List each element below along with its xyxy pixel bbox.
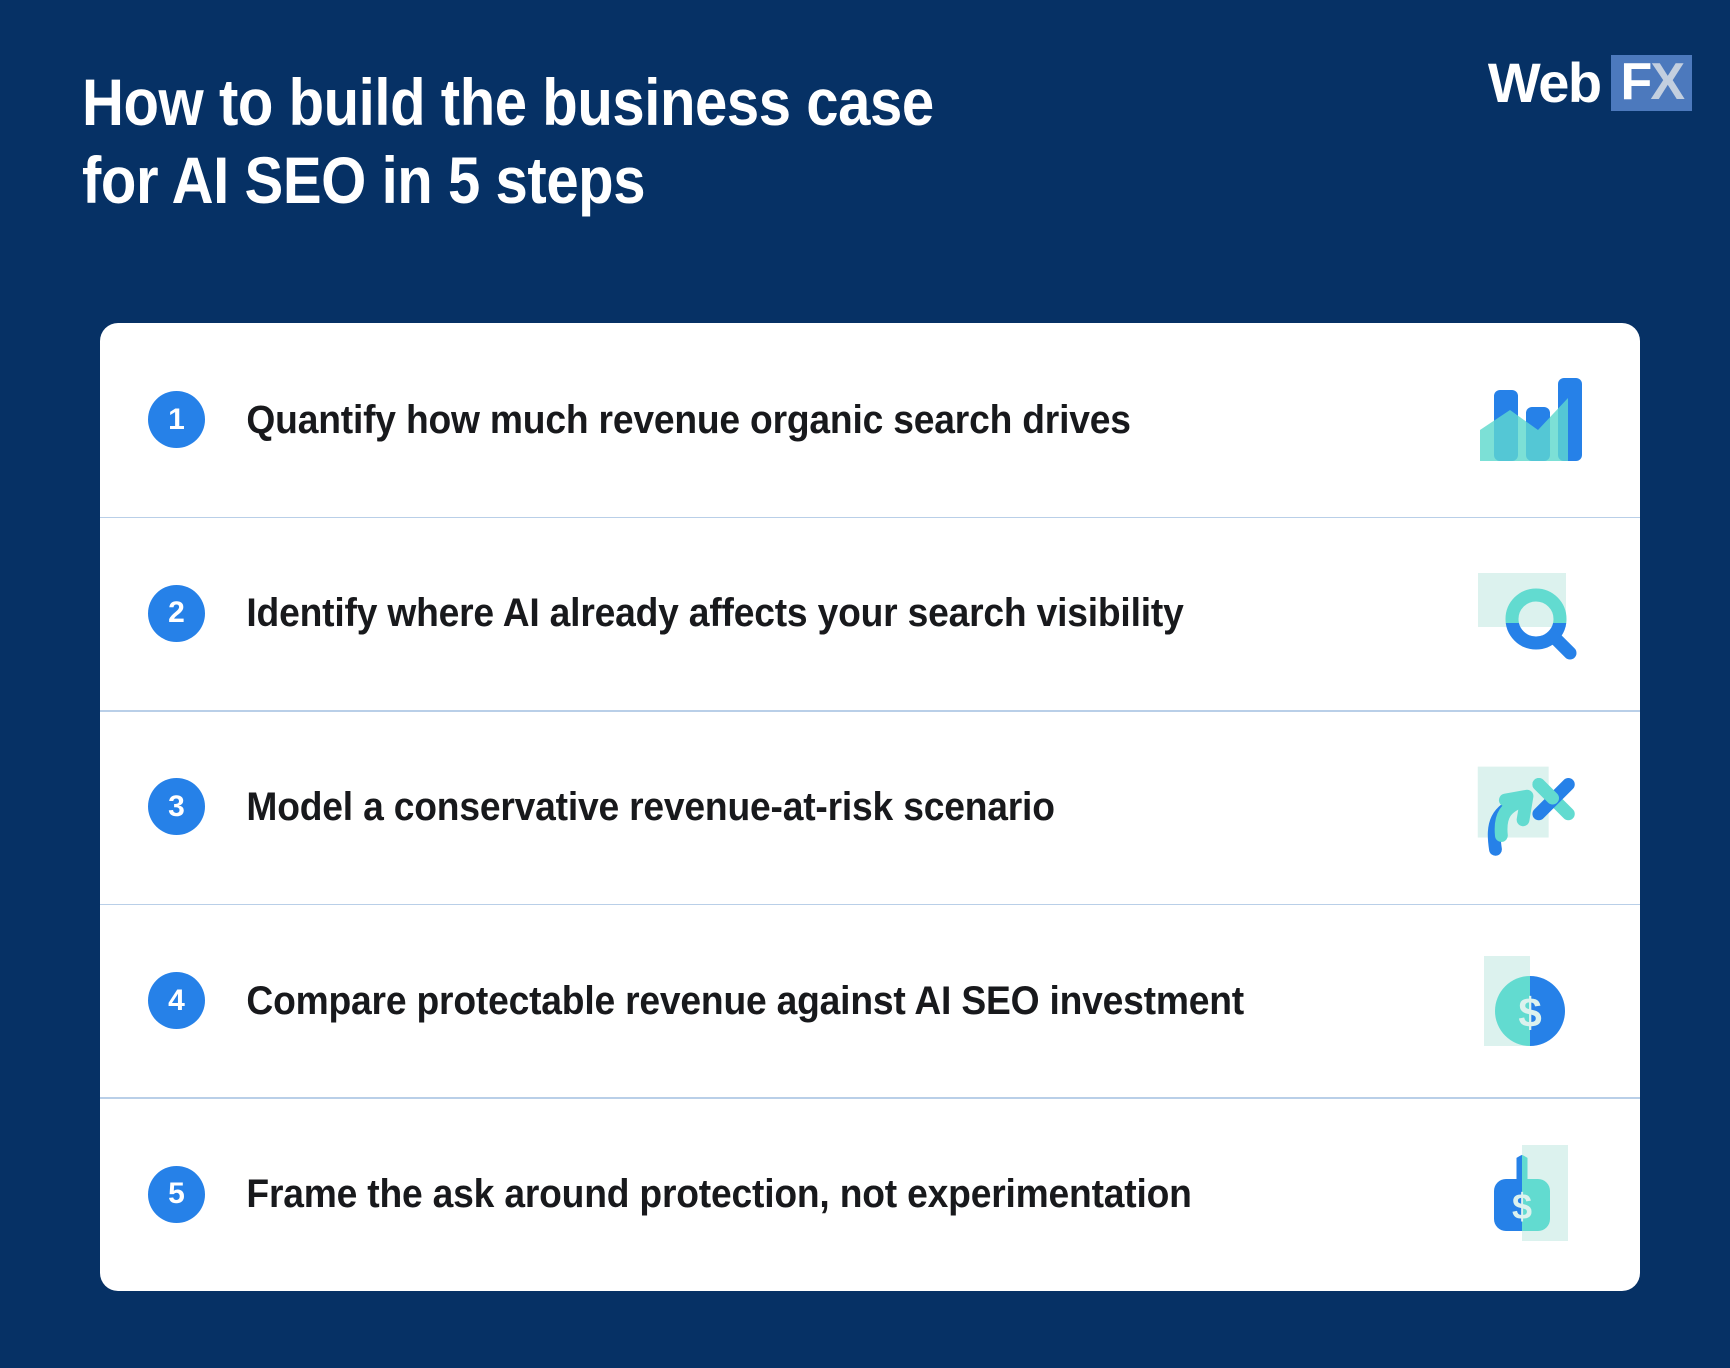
logo-web-text: Web <box>1488 55 1611 111</box>
bar-chart-icon <box>1462 365 1592 475</box>
header: How to build the business case for AI SE… <box>0 0 1730 290</box>
step-label: Compare protectable revenue against AI S… <box>212 978 1375 1024</box>
arrow-cross-icon <box>1462 752 1592 862</box>
magnifier-icon <box>1462 558 1592 668</box>
step-label: Quantify how much revenue organic search… <box>212 397 1375 443</box>
step-row: 5 Frame the ask around protection, not e… <box>100 1097 1640 1291</box>
step-row: 2 Identify where AI already affects your… <box>100 517 1640 711</box>
step-number-badge: 4 <box>148 972 205 1029</box>
logo-x-text: X <box>1650 56 1683 108</box>
page-title: How to build the business case for AI SE… <box>82 64 1120 220</box>
step-label: Frame the ask around protection, not exp… <box>212 1171 1375 1217</box>
dollar-lock-icon: $ <box>1462 1139 1592 1249</box>
webfx-logo: Web F X <box>1488 52 1692 114</box>
step-row: 1 Quantify how much revenue organic sear… <box>100 323 1640 517</box>
step-label: Model a conservative revenue-at-risk sce… <box>212 784 1375 830</box>
steps-card: 1 Quantify how much revenue organic sear… <box>100 323 1640 1291</box>
svg-text:$: $ <box>1518 989 1541 1036</box>
svg-text:$: $ <box>1512 1186 1532 1227</box>
step-number-badge: 2 <box>148 585 205 642</box>
logo-fx-box: F X <box>1611 55 1692 111</box>
step-number-badge: 1 <box>148 391 205 448</box>
logo-f-text: F <box>1621 56 1651 108</box>
step-label: Identify where AI already affects your s… <box>212 590 1375 636</box>
dollar-coin-icon: $ <box>1462 946 1592 1056</box>
step-number-badge: 5 <box>148 1166 205 1223</box>
step-row: 3 Model a conservative revenue-at-risk s… <box>100 710 1640 904</box>
step-number-badge: 3 <box>148 778 205 835</box>
step-row: 4 Compare protectable revenue against AI… <box>100 904 1640 1098</box>
